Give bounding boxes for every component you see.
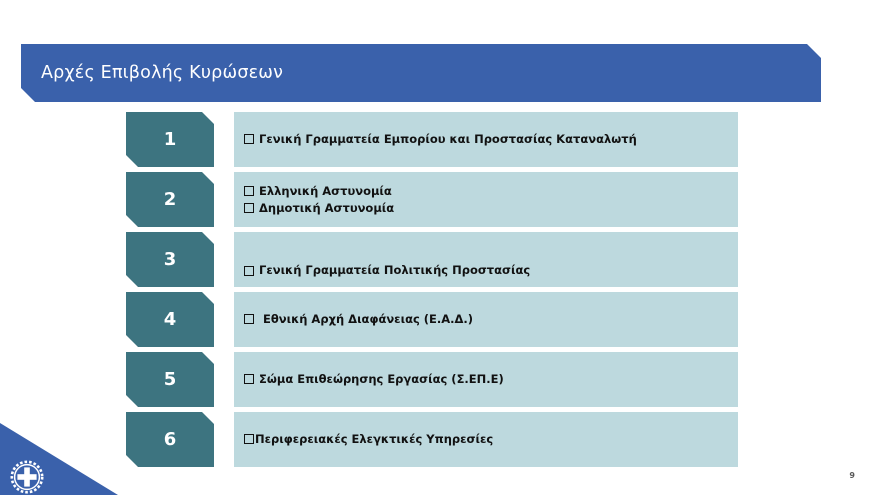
row-content-panel: Εθνική Αρχή Διαφάνειας (Ε.Α.Δ.) xyxy=(234,292,738,347)
row-number-tab: 6 xyxy=(126,412,214,467)
checkbox-icon xyxy=(244,434,254,444)
checklist-line: Σώμα Επιθεώρησης Εργασίας (Σ.ΕΠ.Ε) xyxy=(244,371,738,388)
checklist-line: Περιφερειακές Ελεγκτικές Υπηρεσίες xyxy=(244,431,738,448)
checkbox-icon xyxy=(244,314,254,324)
row-number-label: 2 xyxy=(164,191,177,209)
checkbox-icon xyxy=(244,186,254,196)
checklist-line-label: Γενική Γραμματεία Εμπορίου και Προστασία… xyxy=(259,131,637,148)
page-number: 9 xyxy=(849,472,855,480)
list-item: 1Γενική Γραμματεία Εμπορίου και Προστασί… xyxy=(0,112,880,167)
row-number-tab: 1 xyxy=(126,112,214,167)
row-number-label: 6 xyxy=(164,431,177,449)
checklist-line-label: Γενική Γραμματεία Πολιτικής Προστασίας xyxy=(259,262,530,279)
checklist-line: Δημοτική Αστυνομία xyxy=(244,200,738,217)
list-item: 6Περιφερειακές Ελεγκτικές Υπηρεσίες xyxy=(0,412,880,467)
list-item: 4Εθνική Αρχή Διαφάνειας (Ε.Α.Δ.) xyxy=(0,292,880,347)
row-number-label: 4 xyxy=(164,311,177,329)
row-number-label: 3 xyxy=(164,251,177,269)
row-content-panel: Γενική Γραμματεία Πολιτικής Προστασίας xyxy=(234,232,738,287)
checklist-line-label: Περιφερειακές Ελεγκτικές Υπηρεσίες xyxy=(255,431,493,448)
list-item: 2Ελληνική ΑστυνομίαΔημοτική Αστυνομία xyxy=(0,172,880,227)
row-number-tab: 5 xyxy=(126,352,214,407)
authority-list: 1Γενική Γραμματεία Εμπορίου και Προστασί… xyxy=(0,0,880,495)
checklist-line-label: Ελληνική Αστυνομία xyxy=(259,183,392,200)
row-number-tab: 2 xyxy=(126,172,214,227)
checklist-line: Ελληνική Αστυνομία xyxy=(244,183,738,200)
row-content-panel: Γενική Γραμματεία Εμπορίου και Προστασία… xyxy=(234,112,738,167)
row-content-panel: Περιφερειακές Ελεγκτικές Υπηρεσίες xyxy=(234,412,738,467)
checkbox-icon xyxy=(244,134,254,144)
row-content-panel: Σώμα Επιθεώρησης Εργασίας (Σ.ΕΠ.Ε) xyxy=(234,352,738,407)
checklist-line: Γενική Γραμματεία Εμπορίου και Προστασία… xyxy=(244,131,738,148)
row-content-panel: Ελληνική ΑστυνομίαΔημοτική Αστυνομία xyxy=(234,172,738,227)
checklist-line-label: Δημοτική Αστυνομία xyxy=(259,200,394,217)
checklist-line-label: Σώμα Επιθεώρησης Εργασίας (Σ.ΕΠ.Ε) xyxy=(259,371,504,388)
slide-canvas: Αρχές Επιβολής Κυρώσεων 1Γενική Γραμματε… xyxy=(0,0,880,495)
checklist-line: Γενική Γραμματεία Πολιτικής Προστασίας xyxy=(244,262,738,279)
checkbox-icon xyxy=(244,266,254,276)
greek-coat-of-arms-icon xyxy=(9,459,45,495)
row-number-tab: 4 xyxy=(126,292,214,347)
checkbox-icon xyxy=(244,203,254,213)
checklist-line-label: Εθνική Αρχή Διαφάνειας (Ε.Α.Δ.) xyxy=(263,311,473,328)
row-number-label: 5 xyxy=(164,371,177,389)
list-item: 3Γενική Γραμματεία Πολιτικής Προστασίας xyxy=(0,232,880,287)
row-number-label: 1 xyxy=(164,131,177,149)
checklist-line: Εθνική Αρχή Διαφάνειας (Ε.Α.Δ.) xyxy=(244,311,738,328)
list-item: 5Σώμα Επιθεώρησης Εργασίας (Σ.ΕΠ.Ε) xyxy=(0,352,880,407)
checkbox-icon xyxy=(244,374,254,384)
row-number-tab: 3 xyxy=(126,232,214,287)
